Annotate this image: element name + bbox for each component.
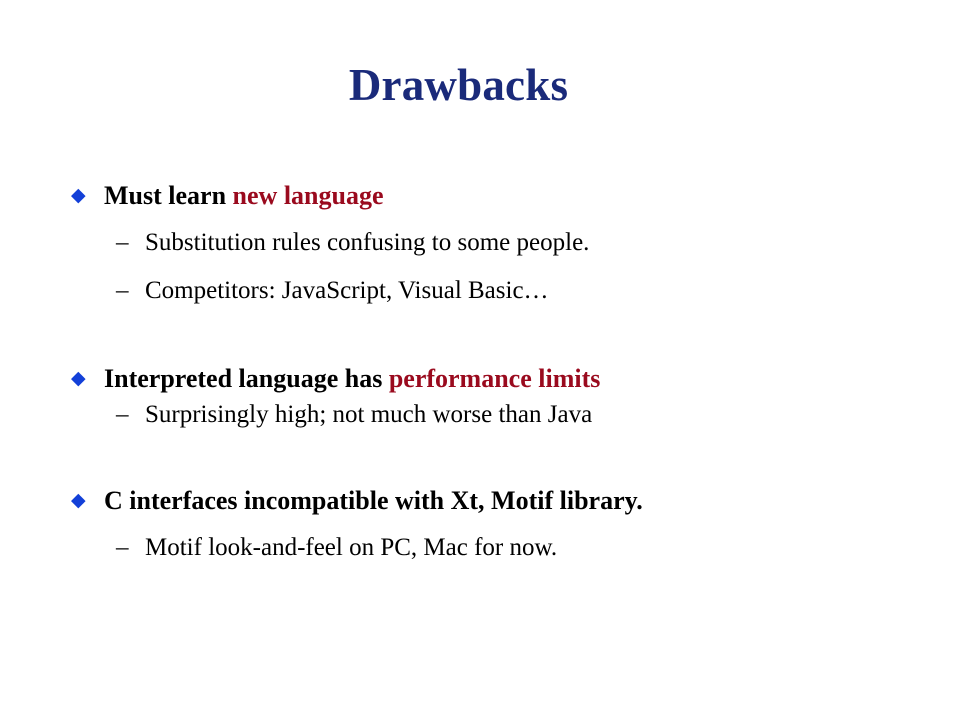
diamond-bullet-icon: ◆ [71,363,91,394]
sub-bullet-item: –Motif look-and-feel on PC, Mac for now. [0,533,959,563]
dash-bullet-icon: – [116,276,140,306]
bullet-item-level1: ◆Must learn new language [0,180,959,211]
sub-bullet-text: Surprisingly high; not much worse than J… [145,401,592,428]
bullet-group-1: ◆Must learn new language –Substitution r… [0,180,959,306]
bullet-item-level1: ◆C interfaces incompatible with Xt, Moti… [0,485,959,516]
bullet-item-level1: ◆Interpreted language has performance li… [0,363,959,394]
diamond-bullet-icon: ◆ [71,180,91,211]
bullet-text-plain: Must learn [104,181,233,210]
bullet-text-accent: new language [233,181,384,210]
sub-bullet-item: –Competitors: JavaScript, Visual Basic… [0,276,959,306]
sub-bullet-item: –Surprisingly high; not much worse than … [0,400,959,430]
sub-bullet-item: –Substitution rules confusing to some pe… [0,228,959,258]
dash-bullet-icon: – [116,400,140,430]
dash-bullet-icon: – [116,228,140,258]
sub-bullet-text: Motif look-and-feel on PC, Mac for now. [145,534,557,561]
diamond-bullet-icon: ◆ [71,485,91,516]
bullet-text-plain: Interpreted language has [104,364,389,393]
presentation-slide: Drawbacks ◆Must learn new language –Subs… [0,0,959,719]
bullet-text-accent: performance limits [389,364,601,393]
slide-body: ◆Must learn new language –Substitution r… [0,180,959,563]
bullet-group-3: ◆C interfaces incompatible with Xt, Moti… [0,485,959,563]
sub-bullet-text: Substitution rules confusing to some peo… [145,229,589,256]
dash-bullet-icon: – [116,533,140,563]
bullet-group-2: ◆Interpreted language has performance li… [0,363,959,430]
sub-bullet-text: Competitors: JavaScript, Visual Basic… [145,277,549,304]
slide-title: Drawbacks [0,62,917,109]
bullet-text-plain: C interfaces incompatible with Xt, Motif… [104,486,643,515]
